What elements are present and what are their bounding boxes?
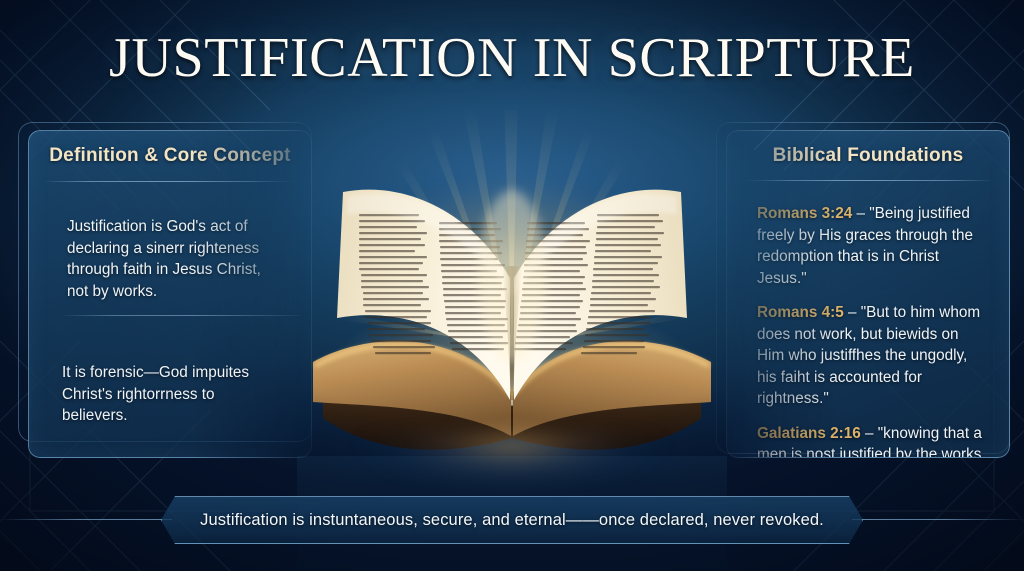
verse-item: Romans 4:5 – "But to him whom does not w… bbox=[757, 302, 987, 410]
verse-reference: Romans 4:5 bbox=[757, 304, 844, 321]
verse-item: Romans 3:24 – "Being justified freely by… bbox=[757, 203, 987, 289]
definition-paragraph-1: Justification is God's act of declaring … bbox=[67, 216, 285, 302]
definition-panel-body: Justification is God's act of declaring … bbox=[29, 182, 311, 302]
summary-banner: Justification is instuntaneous, secure, … bbox=[161, 496, 863, 544]
slide-canvas: JUSTIFICATION IN SCRIPTURE Definition & … bbox=[0, 0, 1024, 571]
verse-reference: Romans 3:24 bbox=[757, 205, 852, 222]
verse-dash: – bbox=[844, 304, 861, 321]
summary-banner-wrap: Justification is instuntaneous, secure, … bbox=[0, 496, 1024, 544]
biblical-foundations-body: Romans 3:24 – "Being justified freely by… bbox=[727, 181, 1009, 458]
banner-connector-line-left bbox=[0, 519, 172, 520]
verse-dash: – bbox=[852, 205, 869, 222]
verse-reference: Galatians 2:16 bbox=[757, 425, 861, 442]
verse-item: Galatians 2:16 – "knowing that a men is … bbox=[757, 423, 987, 459]
definition-paragraph-2: It is forensic—God impuites Christ's rig… bbox=[62, 362, 280, 427]
banner-connector-line-right bbox=[852, 519, 1024, 520]
definition-panel-heading: Definition & Core Concept bbox=[29, 145, 311, 167]
definition-panel-body-2: It is forensic—God impuites Christ's rig… bbox=[62, 362, 280, 427]
biblical-foundations-panel: Biblical Foundations Romans 3:24 – "Bein… bbox=[726, 130, 1010, 458]
biblical-foundations-heading: Biblical Foundations bbox=[727, 145, 1009, 167]
page-title: JUSTIFICATION IN SCRIPTURE bbox=[0, 26, 1024, 90]
verse-dash: – bbox=[861, 425, 878, 442]
definition-panel-second-divider bbox=[62, 315, 300, 316]
